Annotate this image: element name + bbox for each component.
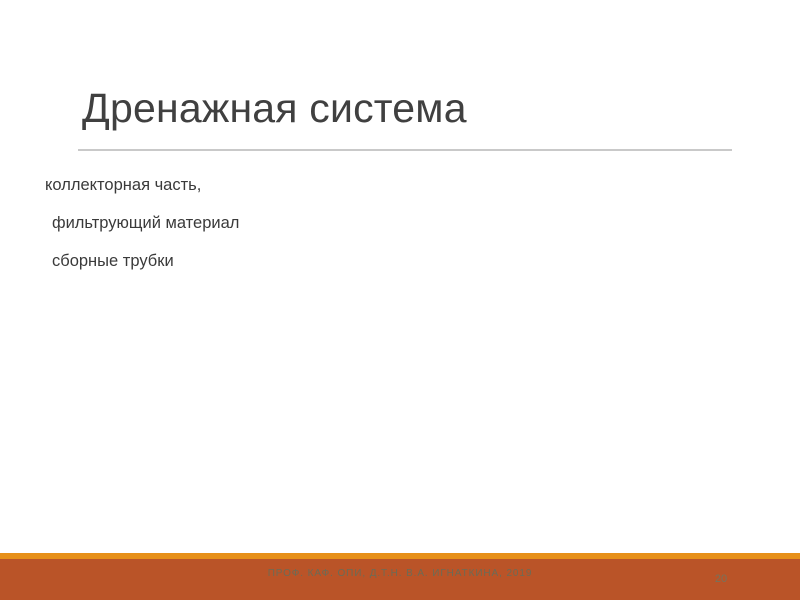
body-line: сборные трубки	[0, 242, 760, 280]
body-line: коллекторная часть,	[0, 166, 760, 204]
footer-attribution: ПРОФ. КАФ. ОПИ, Д.Т.Н. В.А. ИГНАТКИНА, 2…	[0, 566, 800, 581]
title-underline-rule	[78, 149, 732, 151]
page-title: Дренажная система	[82, 84, 742, 132]
body-line: фильтрующий материал	[0, 204, 760, 242]
slide-number: 20	[706, 572, 736, 586]
slide-canvas: Дренажная система коллекторная часть, фи…	[0, 0, 800, 600]
slide-body: коллекторная часть, фильтрующий материал…	[0, 166, 760, 280]
